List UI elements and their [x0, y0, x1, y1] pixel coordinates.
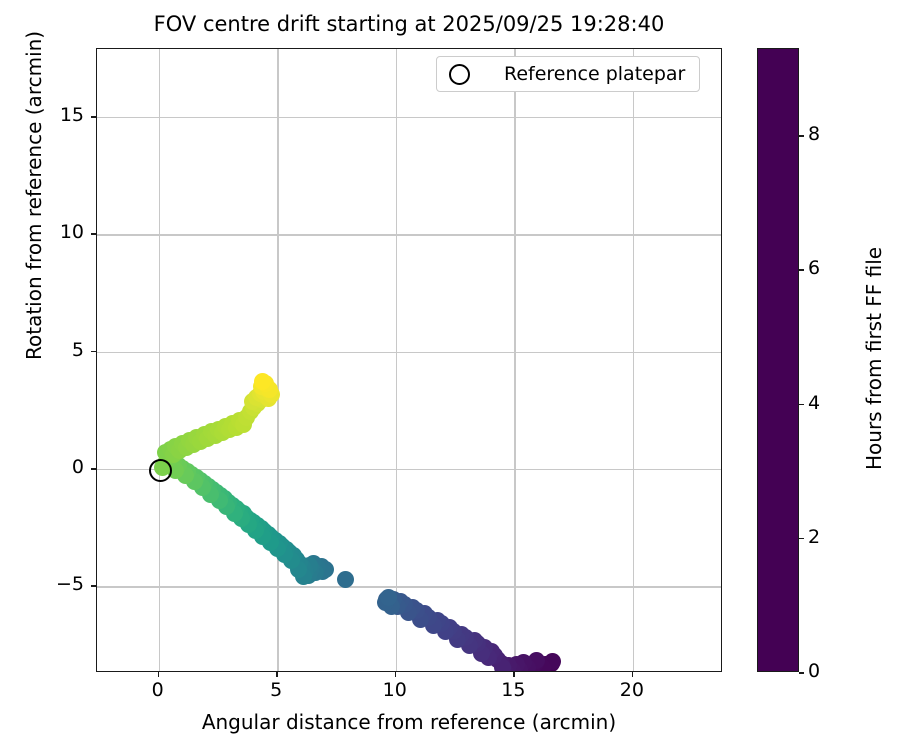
colorbar-tick-label: 4 — [808, 392, 820, 414]
legend: Reference platepar — [436, 56, 700, 92]
x-tick-label: 20 — [602, 679, 662, 701]
scatter-point — [337, 571, 354, 588]
x-tick-label: 15 — [483, 679, 543, 701]
colorbar-tick — [799, 404, 804, 406]
scatter-points — [97, 49, 721, 671]
x-tick — [395, 672, 397, 677]
colorbar — [757, 48, 799, 672]
x-tick — [513, 672, 515, 677]
y-axis-label: Rotation from reference (arcmin) — [22, 31, 46, 360]
colorbar-tick-label: 0 — [808, 660, 820, 682]
x-tick — [158, 672, 160, 677]
colorbar-tick-label: 6 — [808, 257, 820, 279]
y-tick-label: 0 — [20, 456, 84, 478]
plot-area — [96, 48, 722, 672]
legend-label: Reference platepar — [504, 63, 685, 85]
x-tick-label: 0 — [128, 679, 188, 701]
x-tick-label: 10 — [365, 679, 425, 701]
y-tick — [91, 116, 96, 118]
y-tick — [91, 233, 96, 235]
y-tick — [91, 585, 96, 587]
colorbar-tick-label: 8 — [808, 123, 820, 145]
x-tick — [632, 672, 634, 677]
x-tick-label: 5 — [246, 679, 306, 701]
circle-icon — [449, 64, 470, 85]
x-tick — [276, 672, 278, 677]
y-tick-label: −5 — [20, 573, 84, 595]
colorbar-tick — [799, 672, 804, 674]
colorbar-label: Hours from first FF file — [862, 247, 886, 470]
colorbar-tick — [799, 538, 804, 540]
figure-canvas: FOV centre drift starting at 2025/09/25 … — [0, 0, 900, 750]
x-axis-label: Angular distance from reference (arcmin) — [96, 710, 722, 734]
colorbar-tick — [799, 269, 804, 271]
colorbar-tick — [799, 135, 804, 137]
page-title: FOV centre drift starting at 2025/09/25 … — [0, 12, 818, 36]
y-tick — [91, 468, 96, 470]
colorbar-tick-label: 2 — [808, 526, 820, 548]
y-tick — [91, 351, 96, 353]
